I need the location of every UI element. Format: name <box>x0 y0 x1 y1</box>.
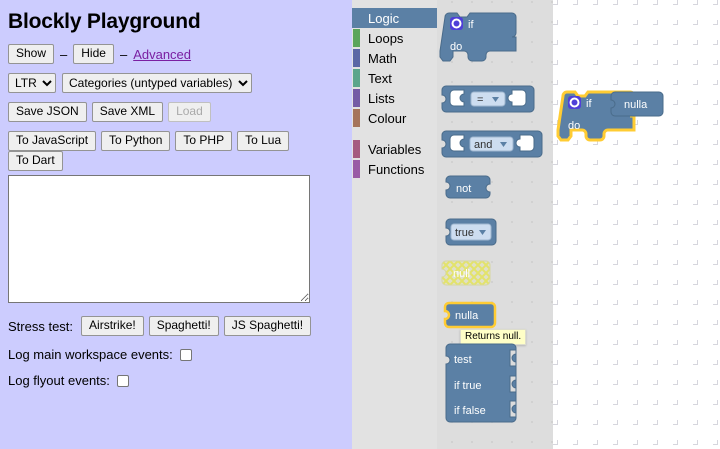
main-workspace[interactable]: if do nulla <box>553 0 720 449</box>
category-color-swatch <box>353 49 360 67</box>
category-label: Text <box>368 71 392 86</box>
block-label: nulla <box>455 310 479 322</box>
select-row: LTR Categories (untyped variables) <box>8 73 344 93</box>
category-color-swatch <box>353 69 360 87</box>
category-colour[interactable]: Colour <box>352 108 437 128</box>
log-main-checkbox[interactable] <box>180 349 192 361</box>
category-functions[interactable]: Functions <box>352 159 437 179</box>
code-output-textarea[interactable] <box>8 175 310 303</box>
flyout-block-logic-compare[interactable]: = <box>442 86 534 114</box>
page-title: Blockly Playground <box>8 10 344 34</box>
category-color-swatch <box>353 89 360 107</box>
category-label: Functions <box>368 162 424 177</box>
category-variables[interactable]: Variables <box>352 139 437 159</box>
control-panel: Blockly Playground Show – Hide – Advance… <box>0 0 352 449</box>
category-math[interactable]: Math <box>352 48 437 68</box>
separator-dash-1: – <box>60 47 67 62</box>
flyout-block-logic-null[interactable]: null <box>442 261 490 289</box>
spaghetti-button[interactable]: Spaghetti! <box>149 316 219 336</box>
flyout-block-logic-operation[interactable]: and <box>442 131 542 159</box>
save-load-row: Save JSON Save XML Load <box>8 102 344 122</box>
to-lua-button[interactable]: To Lua <box>237 131 289 151</box>
show-button[interactable]: Show <box>8 44 54 64</box>
log-flyout-checkbox[interactable] <box>117 375 129 387</box>
category-color-swatch <box>353 9 360 27</box>
block-tooltip: Returns null. <box>460 329 526 345</box>
category-color-swatch <box>353 29 360 47</box>
block-label: if <box>468 19 474 31</box>
save-xml-button[interactable]: Save XML <box>92 102 163 122</box>
stress-test-label: Stress test: <box>8 319 73 334</box>
category-color-swatch <box>353 140 360 158</box>
category-label: Lists <box>368 91 395 106</box>
separator-dash-2: – <box>120 47 127 62</box>
category-label: Variables <box>368 142 421 157</box>
hide-button[interactable]: Hide <box>73 44 114 64</box>
category-loops[interactable]: Loops <box>352 28 437 48</box>
category-label: Colour <box>368 111 406 126</box>
block-field-value: = <box>477 94 483 106</box>
js-spaghetti-button[interactable]: JS Spaghetti! <box>224 316 311 336</box>
category-lists[interactable]: Lists <box>352 88 437 108</box>
workspace-block-logic-null-alt[interactable]: nulla <box>611 92 663 120</box>
flyout-block-controls-if[interactable]: if do <box>445 13 520 73</box>
show-hide-row: Show – Hide – Advanced <box>8 44 344 64</box>
export-row: To JavaScript To Python To PHP To Lua To… <box>8 131 344 171</box>
category-text[interactable]: Text <box>352 68 437 88</box>
category-label: Loops <box>368 31 403 46</box>
flyout-block-logic-null-alt[interactable]: nulla <box>445 302 495 332</box>
category-color-swatch <box>353 160 360 178</box>
to-python-button[interactable]: To Python <box>101 131 170 151</box>
to-dart-button[interactable]: To Dart <box>8 151 63 171</box>
block-label: test <box>454 354 472 366</box>
block-label: if true <box>454 380 482 392</box>
load-button: Load <box>168 102 211 122</box>
log-flyout-label: Log flyout events: <box>8 373 110 388</box>
to-php-button[interactable]: To PHP <box>175 131 232 151</box>
block-label: if false <box>454 405 486 417</box>
toolbox-categories: Logic Loops Math Text Lists Colour Varia… <box>352 0 437 449</box>
category-separator <box>352 128 437 139</box>
flyout-block-logic-boolean[interactable]: true <box>446 219 496 247</box>
log-flyout-row: Log flyout events: <box>8 373 344 388</box>
workspace-grid <box>553 0 720 449</box>
category-label: Logic <box>368 11 399 26</box>
save-json-button[interactable]: Save JSON <box>8 102 87 122</box>
toolbox-flyout[interactable]: if do = and not <box>437 0 553 449</box>
log-main-row: Log main workspace events: <box>8 347 344 362</box>
block-label: nulla <box>624 99 648 111</box>
playground-root: Blockly Playground Show – Hide – Advance… <box>0 0 720 449</box>
block-field-value: and <box>474 139 492 151</box>
stress-test-row: Stress test: Airstrike! Spaghetti! JS Sp… <box>8 316 344 336</box>
advanced-link[interactable]: Advanced <box>133 47 191 62</box>
flyout-block-logic-negate[interactable]: not <box>446 176 490 202</box>
block-label: do <box>568 120 580 132</box>
flyout-block-logic-ternary[interactable]: test if true if false <box>446 344 516 422</box>
block-label: not <box>456 183 471 195</box>
category-color-swatch <box>353 109 360 127</box>
block-label: if <box>586 98 592 110</box>
block-label: null <box>453 268 470 280</box>
direction-select[interactable]: LTR <box>8 73 56 93</box>
toolbox-select[interactable]: Categories (untyped variables) <box>62 73 252 93</box>
block-field-value: true <box>455 227 474 239</box>
category-label: Math <box>368 51 397 66</box>
block-label: do <box>450 41 462 53</box>
category-logic[interactable]: Logic <box>352 8 437 28</box>
log-main-label: Log main workspace events: <box>8 347 173 362</box>
airstrike-button[interactable]: Airstrike! <box>81 316 144 336</box>
to-javascript-button[interactable]: To JavaScript <box>8 131 96 151</box>
